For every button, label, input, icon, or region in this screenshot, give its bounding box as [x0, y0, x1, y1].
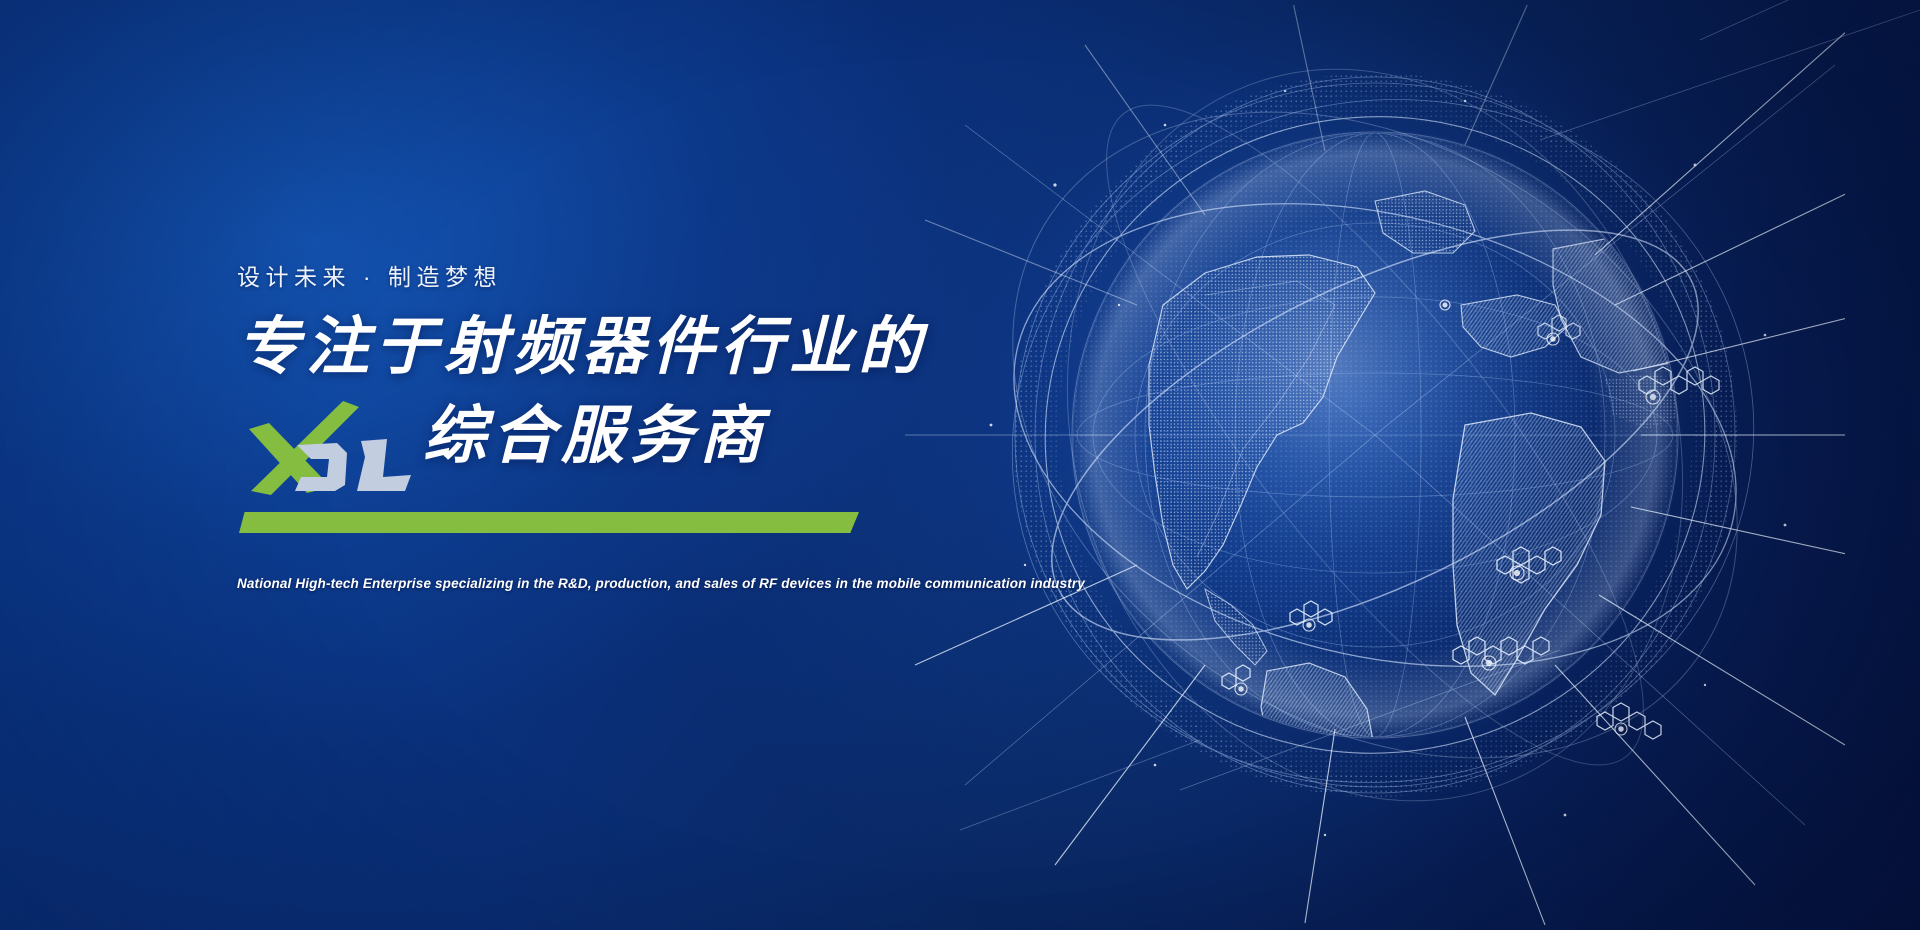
subtitle-english: National High-tech Enterprise specializi… — [237, 576, 1085, 591]
headline-line-1: 专注于射频器件行业的 — [237, 314, 1057, 381]
hero-banner: 设计未来 · 制造梦想 专注于射频器件行业的 综合服务商 National Hi… — [0, 0, 1920, 930]
hero-copy: 设计未来 · 制造梦想 专注于射频器件行业的 综合服务商 National Hi… — [237, 258, 1057, 505]
headline-line-2-row: 综合服务商 — [237, 387, 1057, 505]
accent-underline-bar — [239, 512, 859, 533]
headline-line-2: 综合服务商 — [423, 399, 768, 473]
logo-dl-letters — [295, 439, 411, 491]
tagline: 设计未来 · 制造梦想 — [237, 258, 1057, 292]
xdl-logo-icon — [235, 401, 435, 505]
